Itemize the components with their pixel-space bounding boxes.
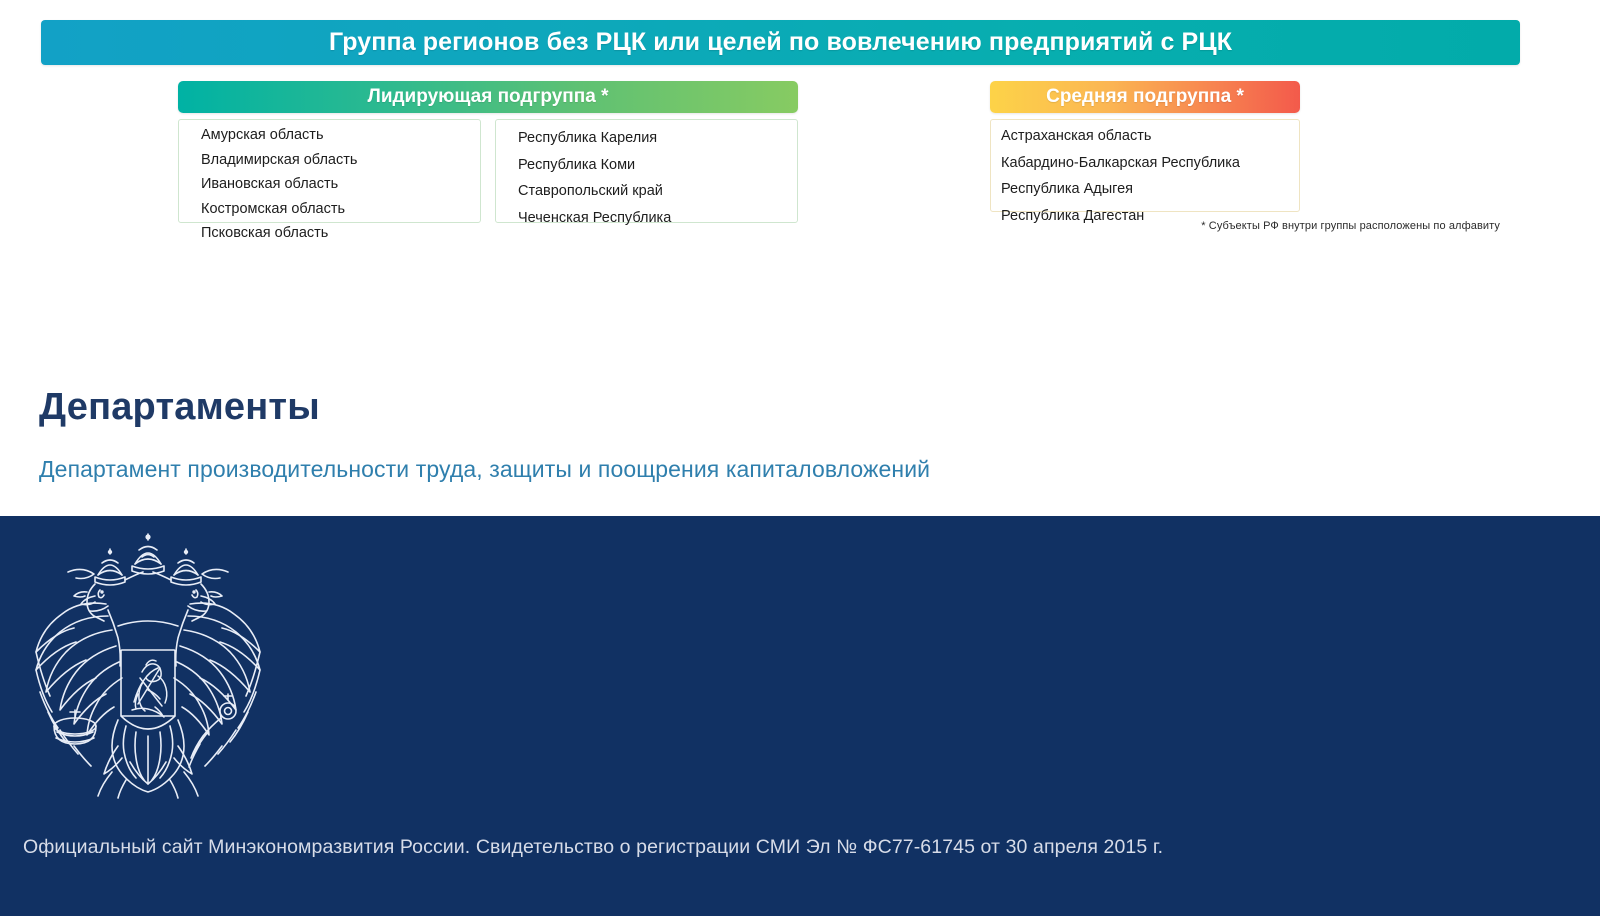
departments-section: Департаменты Департамент производительно…	[0, 250, 1600, 516]
russian-coat-of-arms-icon	[22, 530, 274, 802]
region-item: Республика Карелия	[496, 131, 797, 146]
subgroup-middle-header: Средняя подгруппа *	[990, 81, 1300, 113]
alphabet-footnote: * Субъекты РФ внутри группы расположены …	[990, 220, 1500, 232]
region-item: Костромская область	[179, 202, 480, 217]
region-item: Республика Адыгея	[991, 182, 1299, 197]
region-box: Республика Карелия Республика Коми Ставр…	[495, 119, 798, 223]
subgroup-leading-header: Лидирующая подгруппа *	[178, 81, 798, 113]
page-title: Департаменты	[39, 386, 320, 429]
region-box: Астраханская область Кабардино-Балкарска…	[990, 119, 1300, 212]
department-link[interactable]: Департамент производительности труда, за…	[39, 456, 930, 483]
region-box: Амурская область Владимирская область Ив…	[178, 119, 481, 223]
region-item: Кабардино-Балкарская Республика	[991, 156, 1299, 171]
subgroup-leading-title: Лидирующая подгруппа *	[367, 86, 608, 108]
regions-infographic: Группа регионов без РЦК или целей по вов…	[0, 0, 1600, 250]
region-item: Ставропольский край	[496, 184, 797, 199]
subgroup-leading: Лидирующая подгруппа * Амурская область …	[178, 81, 798, 223]
subgroup-middle-columns: Астраханская область Кабардино-Балкарска…	[990, 119, 1300, 212]
group-banner-title: Группа регионов без РЦК или целей по вов…	[329, 28, 1232, 57]
footer-copyright: Официальный сайт Минэкономразвития Росси…	[23, 836, 1163, 859]
site-footer: Официальный сайт Минэкономразвития Росси…	[0, 516, 1600, 916]
subgroup-middle: Средняя подгруппа * Астраханская область…	[990, 81, 1300, 212]
subgroup-middle-title: Средняя подгруппа *	[1046, 86, 1244, 108]
region-item: Псковская область	[179, 226, 480, 241]
region-item: Республика Коми	[496, 158, 797, 173]
subgroup-leading-columns: Амурская область Владимирская область Ив…	[178, 119, 798, 223]
region-item: Чеченская Республика	[496, 211, 797, 226]
region-item: Владимирская область	[179, 153, 480, 168]
region-item: Ивановская область	[179, 177, 480, 192]
group-banner: Группа регионов без РЦК или целей по вов…	[41, 20, 1520, 65]
region-item: Астраханская область	[991, 129, 1299, 144]
region-item: Амурская область	[179, 128, 480, 143]
